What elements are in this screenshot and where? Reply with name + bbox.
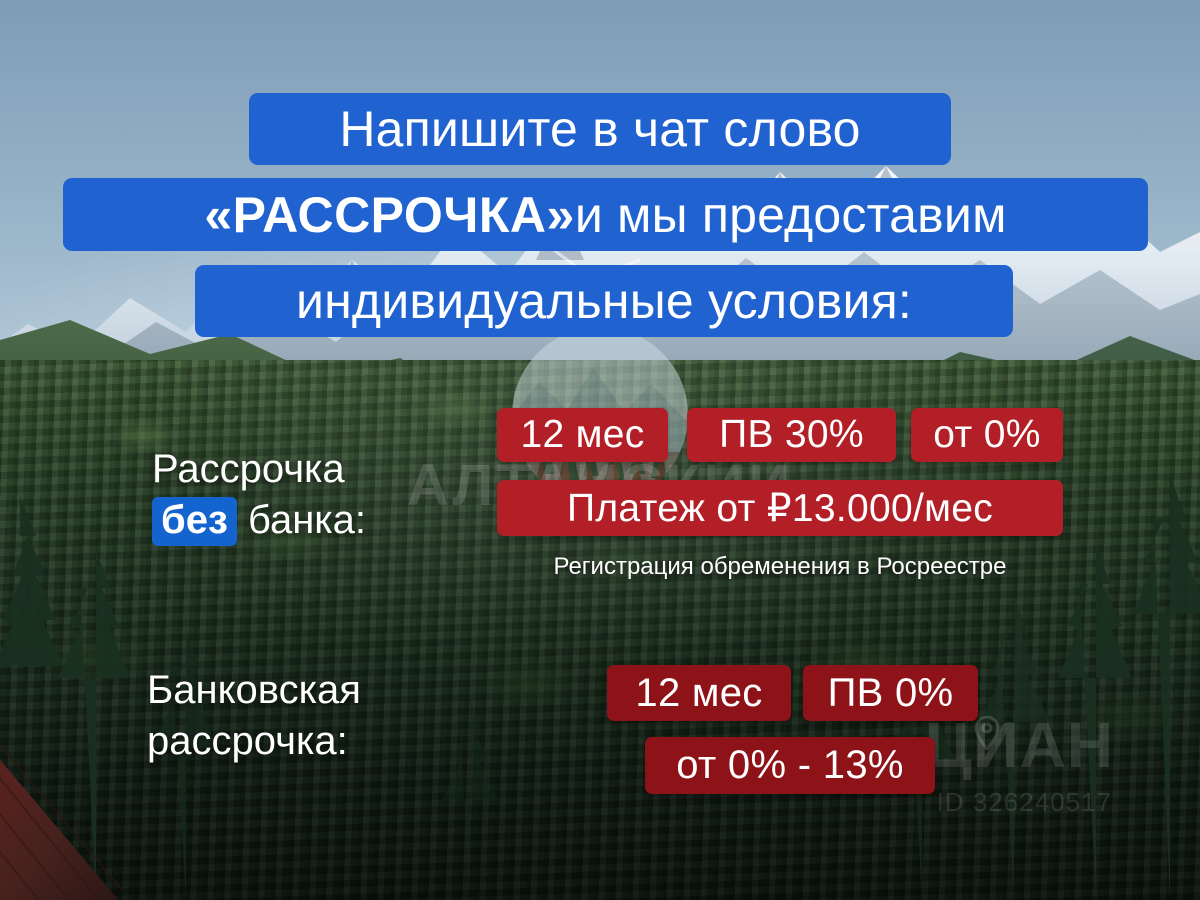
- badge-downpayment-no-bank: ПВ 30%: [687, 408, 896, 462]
- headline-line-2-rest: и мы предоставим: [575, 186, 1007, 244]
- badge-term-no-bank: 12 мес: [497, 408, 668, 462]
- offer-label-no-bank: Рассрочка без банка:: [152, 444, 366, 546]
- headline-line-1: Напишите в чат слово: [249, 93, 951, 165]
- offer-label-bank-line2: рассрочка:: [147, 716, 361, 767]
- badge-rate-range-bank: от 0% - 13%: [645, 737, 935, 794]
- headline-keyword: «РАССРОЧКА»: [204, 186, 575, 244]
- offer-label-no-bank-line1: Рассрочка: [152, 444, 366, 495]
- offer-label-no-bank-line2: без банка:: [152, 495, 366, 546]
- offer-label-bank: Банковская рассрочка:: [147, 665, 361, 767]
- red-roof-corner: [0, 744, 200, 900]
- headline-line-3: индивидуальные условия:: [195, 265, 1013, 337]
- badge-rate-no-bank: от 0%: [911, 408, 1063, 462]
- offer-label-no-bank-line2-rest: банка:: [237, 498, 366, 542]
- listing-id-watermark: ID 326240517: [937, 787, 1112, 818]
- badge-monthly-payment: Платеж от ₽13.000/мес: [497, 480, 1063, 536]
- headline-line-2: «РАССРОЧКА» и мы предоставим: [63, 178, 1148, 251]
- offer-label-bank-line1: Банковская: [147, 665, 361, 716]
- badge-term-bank: 12 мес: [607, 665, 791, 721]
- badge-downpayment-bank: ПВ 0%: [803, 665, 978, 721]
- promo-poster: АЛТАЙСКИЙ ПЕЙЗАЖ ЦИАН ID 326240517 Напиш…: [0, 0, 1200, 900]
- encumbrance-note: Регистрация обременения в Росреестре: [497, 553, 1063, 581]
- offer-label-highlight: без: [152, 497, 237, 546]
